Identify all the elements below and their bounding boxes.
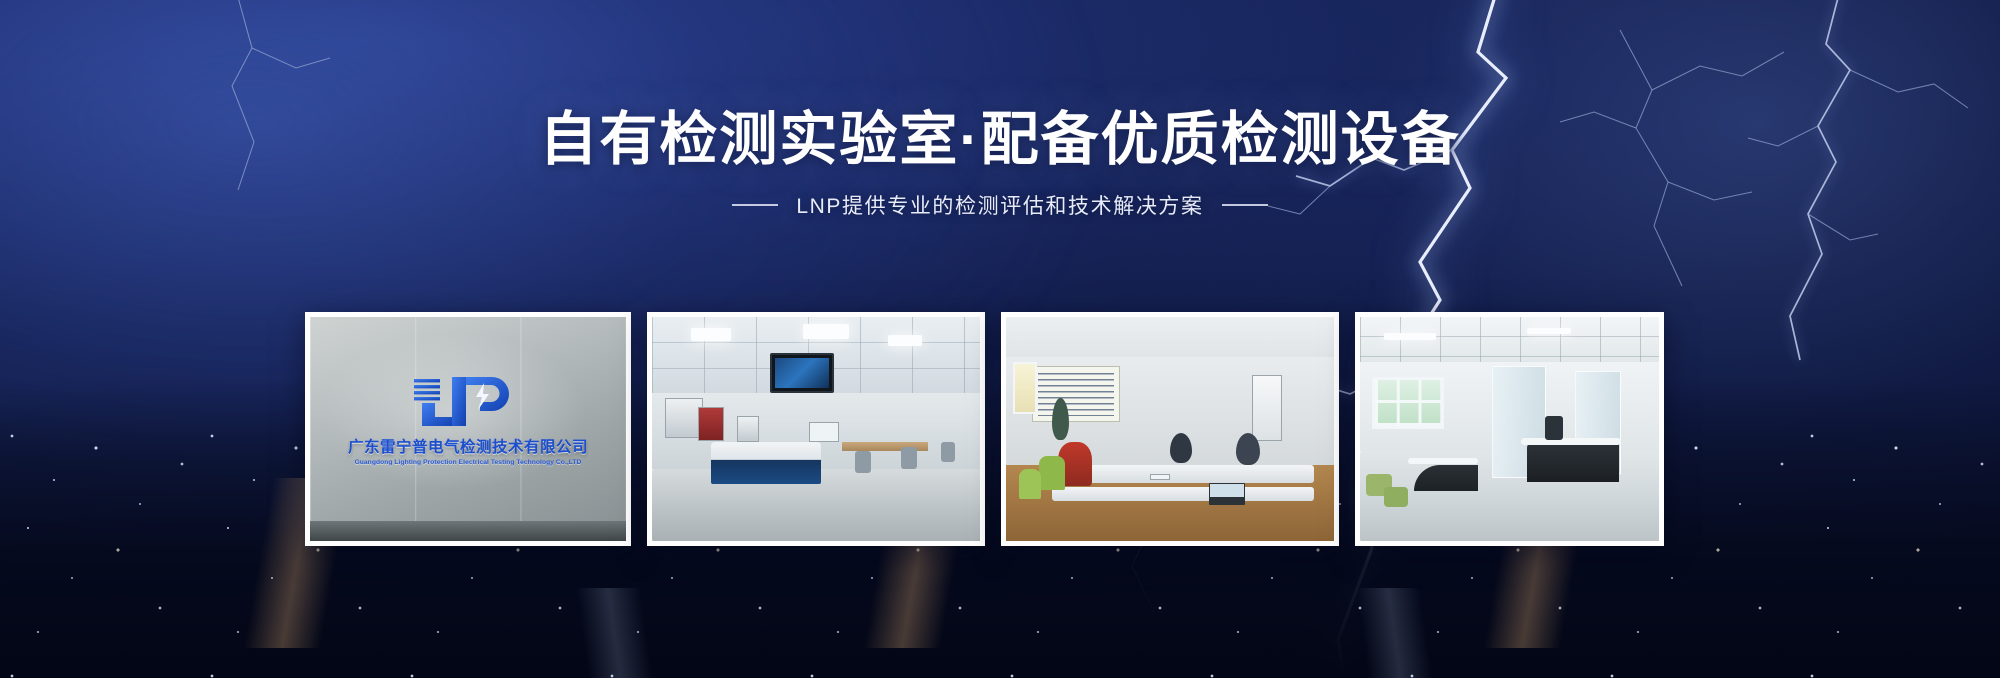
hero-subtitle-row: LNP提供专业的检测评估和技术解决方案 — [0, 190, 2000, 220]
lab-equipment-red — [698, 407, 724, 441]
wall-monitor — [770, 353, 834, 393]
green-chair — [1019, 469, 1041, 499]
ceiling-light — [803, 324, 849, 339]
ceiling-light — [1527, 328, 1571, 334]
curved-counter-top — [1408, 458, 1478, 464]
laptop — [1209, 483, 1245, 505]
photo-testing-lab-image — [652, 317, 980, 541]
counter-top — [1521, 438, 1621, 445]
company-sign: 广东雷宁普电气检测技术有限公司 Guangdong Lighting Prote… — [310, 371, 626, 466]
office-chair — [1545, 416, 1563, 440]
lab-chair — [855, 451, 871, 473]
reception-counter — [1527, 442, 1619, 482]
gallery-photo-testing-lab[interactable] — [647, 312, 985, 546]
lab-equipment — [737, 416, 759, 442]
ceiling-light — [1384, 333, 1436, 340]
photo-company-sign-image: 广东雷宁普电气检测技术有限公司 Guangdong Lighting Prote… — [310, 317, 626, 541]
gallery-photo-office[interactable] — [1355, 312, 1664, 546]
photo-meeting-room-image — [1006, 317, 1334, 541]
lab-monitor — [809, 422, 839, 442]
banner-hero: 自有检测实验室·配备优质检测设备 LNP提供专业的检测评估和技术解决方案 — [0, 0, 2000, 678]
waiting-chair — [1384, 487, 1408, 507]
office-window — [1372, 377, 1444, 429]
green-chair — [1039, 456, 1065, 490]
meeting-table-front — [1052, 487, 1314, 501]
meeting-window — [1013, 362, 1037, 414]
projection-screen — [1032, 366, 1120, 422]
lobby-floor — [310, 521, 626, 541]
gallery-photo-meeting-room[interactable] — [1001, 312, 1339, 546]
lab-chair — [901, 447, 917, 469]
ceiling-light — [888, 335, 922, 346]
lnp-logo-icon — [408, 371, 528, 429]
lab-chair — [941, 442, 955, 462]
ceiling-light — [691, 328, 731, 341]
control-console — [711, 442, 821, 484]
hero-headline: 自有检测实验室·配备优质检测设备 — [0, 108, 2000, 172]
company-sign-cn: 广东雷宁普电气检测技术有限公司 — [310, 435, 626, 457]
water-cooler — [1252, 375, 1282, 441]
hero-text-block: 自有检测实验室·配备优质检测设备 LNP提供专业的检测评估和技术解决方案 — [0, 108, 2000, 220]
company-sign-en: Guangdong Lighting Protection Electrical… — [310, 459, 626, 466]
photo-office-image — [1360, 317, 1659, 541]
gallery-photo-company-sign[interactable]: 广东雷宁普电气检测技术有限公司 Guangdong Lighting Prote… — [305, 312, 631, 546]
rule-left-icon — [732, 204, 778, 206]
paper-document — [1150, 474, 1170, 480]
photo-gallery: 广东雷宁普电气检测技术有限公司 Guangdong Lighting Prote… — [305, 312, 1648, 546]
person-seated-left — [1170, 433, 1192, 463]
rule-right-icon — [1222, 204, 1268, 206]
person-seated-right — [1236, 433, 1260, 465]
person-presenter — [1052, 398, 1069, 440]
hero-subtitle: LNP提供专业的检测评估和技术解决方案 — [796, 190, 1203, 220]
meeting-table — [1078, 465, 1314, 483]
